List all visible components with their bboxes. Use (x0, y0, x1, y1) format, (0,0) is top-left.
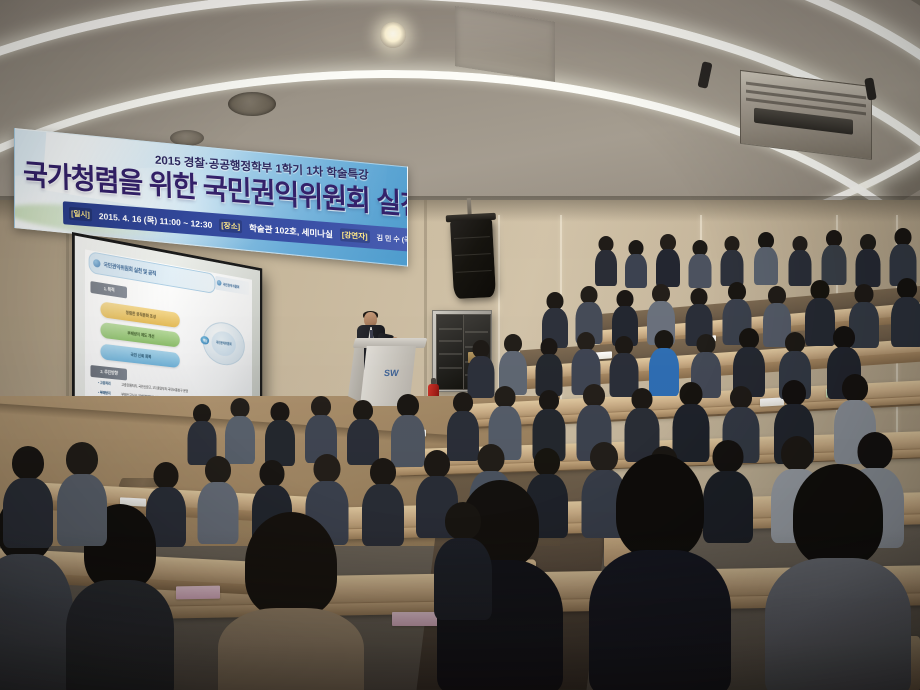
ceiling-vent (228, 92, 276, 116)
slide-section-label-2: 2. 추진방향 (91, 365, 127, 380)
audience-member (268, 402, 292, 462)
audience-member (190, 404, 214, 462)
speaker-cabinet (450, 219, 496, 299)
audience-member (8, 446, 48, 542)
slide-bullet-text: 고충민원처리, 국민신문고, 1차 중앙부처 국민소통창구 운영 (121, 383, 188, 393)
audience-member (308, 396, 334, 460)
audience-member (538, 338, 560, 394)
audience-member (858, 234, 878, 284)
banner-info-tag-speaker: [강연자] (340, 228, 370, 243)
banner-info-tag-venue: [장소] (219, 219, 242, 234)
audience-member-foreground (236, 512, 346, 690)
audience-member (790, 236, 810, 284)
lectern-logo: SW (383, 368, 399, 378)
audience-member (62, 442, 102, 540)
cabinet-door-left (436, 314, 464, 390)
audience-member-foreground (782, 464, 894, 690)
audience-member (450, 392, 476, 458)
audience-member (596, 236, 616, 284)
slide-focus-badge: 핵심 (201, 336, 209, 345)
org-logo-icon (217, 280, 222, 286)
audience-member (736, 328, 762, 394)
audience-member (502, 334, 524, 392)
slide-pill-3: 국민 신뢰 회복 (100, 343, 180, 368)
lecture-hall-photograph: 2015 경찰·공공행정학부 1학기 1차 학술특강 국가청렴을 위한 국민권익… (0, 0, 920, 690)
audience-member (626, 240, 646, 286)
audience-member (722, 236, 742, 284)
slide-focus-circle: 핵심 국민권익위원회 (203, 319, 245, 367)
banner-info-value-venue: 학술관 102호, 세미나실 (249, 221, 333, 240)
banner-info-value-speaker: 김 민 수 (국민권익위원회 부패방지 및 소극행정) (376, 232, 408, 252)
audience-member (350, 400, 376, 462)
audience-member (708, 440, 748, 538)
audience-member (574, 332, 598, 392)
ceiling-loudspeaker (450, 219, 496, 299)
audience-member (658, 234, 678, 284)
desk-notebook (176, 586, 220, 600)
slide-title-text: 국민권익위원회 실천 및 공직 (103, 261, 156, 278)
banner-info-value-date: 2015. 4. 16 (목) 11:00 ~ 12:30 (99, 210, 213, 231)
audience-member (366, 458, 400, 544)
audience-member (808, 280, 832, 342)
banner-info-tag-date: [일시] (69, 207, 92, 222)
audience-member (612, 336, 636, 394)
desk-notebook (392, 612, 440, 626)
audience-member (440, 502, 486, 614)
audience-member (470, 340, 492, 396)
audience-member (892, 228, 914, 284)
slide-bullet-label: ▪ 고충처리 (98, 381, 121, 388)
audience-member (228, 398, 252, 460)
slide-section-label-1: 1. 목적 (91, 281, 127, 298)
ceiling-downlight (380, 22, 406, 48)
audience-member (652, 330, 676, 392)
org-logo-text: 국민권익위원회 (223, 282, 239, 289)
slide-focus-caption: 국민권익위원회 (211, 329, 236, 358)
audience-member (690, 240, 710, 286)
audience-member (394, 394, 422, 462)
slide-bullet-icon (94, 259, 101, 268)
audience-member-foreground (606, 454, 714, 690)
audience-member (756, 232, 776, 282)
audience-member (202, 456, 234, 540)
audience-member (824, 230, 844, 282)
audience-member (894, 278, 920, 344)
slide-org-logo: 국민권익위원회 (215, 276, 249, 295)
